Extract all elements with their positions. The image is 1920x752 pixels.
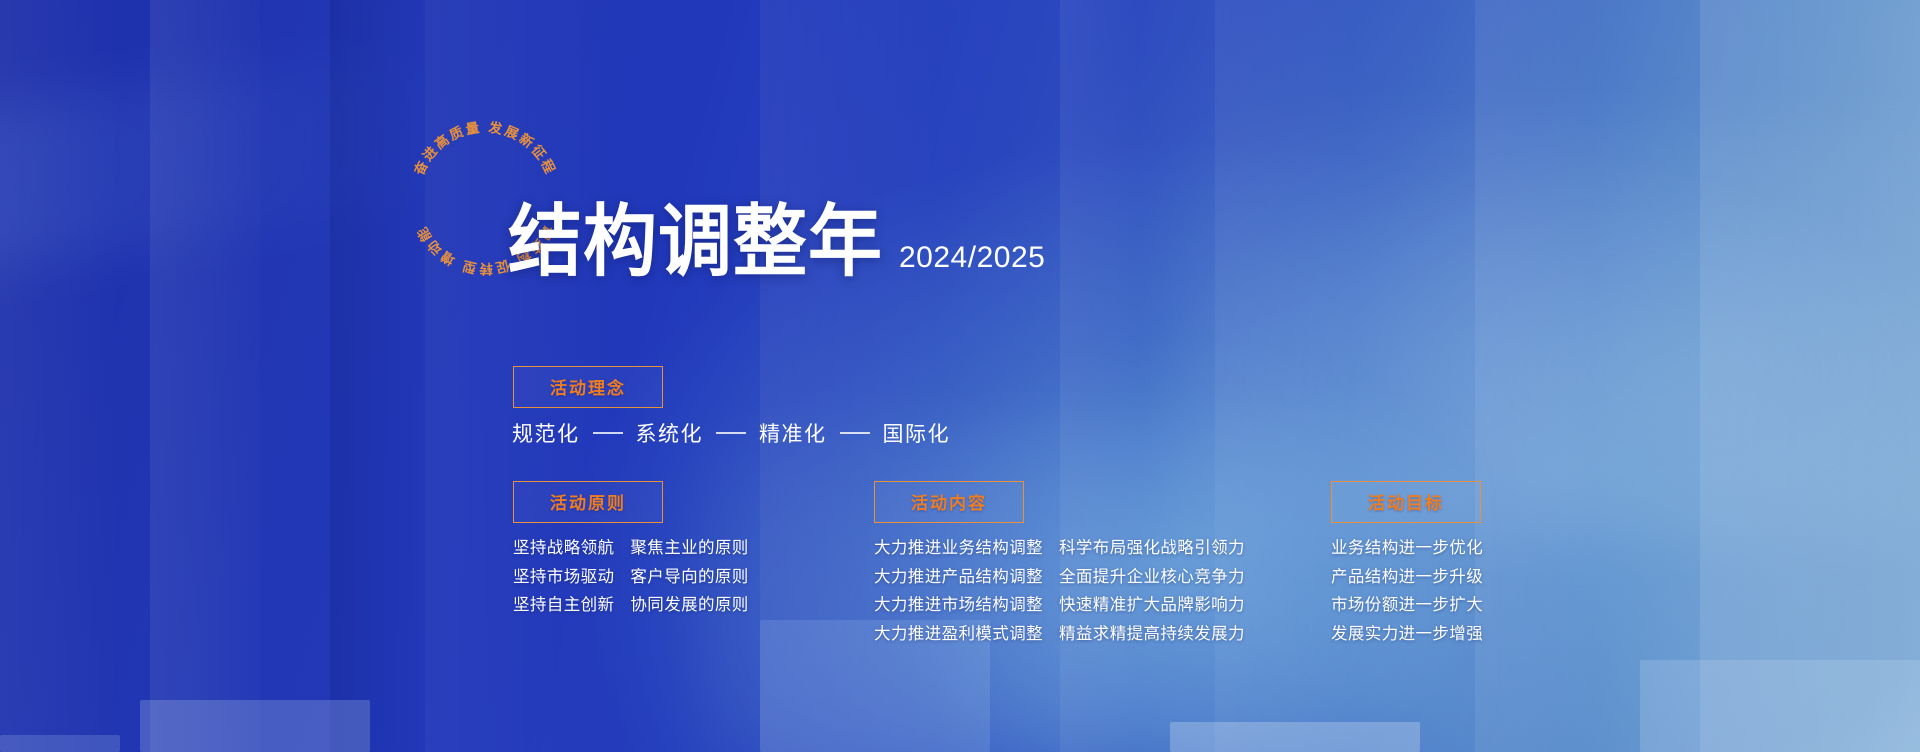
content-1-b: 全面提升企业核心竞争力 [1059, 563, 1245, 592]
bg-band-1 [0, 0, 120, 752]
bg-block-1 [140, 700, 370, 752]
separator-dash-icon [716, 432, 746, 434]
list-item: 业务结构进一步优化 [1331, 534, 1483, 563]
separator-dash-icon [840, 432, 870, 434]
concept-item-2: 精准化 [759, 418, 827, 448]
list-item: 大力推进市场结构调整 快速精准扩大品牌影响力 [874, 591, 1245, 620]
promo-banner: 奋进高质量 发展新征程 调结构 促转型 增动能 结构调整年 2024/2025 … [0, 0, 1920, 752]
emblem-top-textpath: 奋进高质量 发展新征程 [410, 119, 559, 179]
list-item: 坚持自主创新 协同发展的原则 [513, 591, 749, 620]
list-item: 产品结构进一步升级 [1331, 563, 1483, 592]
bg-block-3 [1170, 722, 1420, 752]
content-3-b: 精益求精提高持续发展力 [1059, 620, 1245, 649]
principle-1-a: 坚持市场驱动 [513, 563, 614, 592]
content-0-b: 科学布局强化战略引领力 [1059, 534, 1245, 563]
list-item: 坚持市场驱动 客户导向的原则 [513, 563, 749, 592]
list-item: 坚持战略领航 聚焦主业的原则 [513, 534, 749, 563]
content-list: 大力推进业务结构调整 科学布局强化战略引领力 大力推进产品结构调整 全面提升企业… [874, 534, 1245, 648]
list-item: 大力推进业务结构调整 科学布局强化战略引领力 [874, 534, 1245, 563]
goal-0: 业务结构进一步优化 [1331, 534, 1483, 563]
badge-content: 活动内容 [874, 481, 1024, 523]
page-title: 结构调整年 [508, 203, 883, 281]
goal-3: 发展实力进一步增强 [1331, 620, 1483, 649]
headline-group: 结构调整年 2024/2025 [508, 207, 1045, 281]
bg-band-2 [150, 0, 260, 752]
content-2-a: 大力推进市场结构调整 [874, 591, 1043, 620]
content-3-a: 大力推进盈利模式调整 [874, 620, 1043, 649]
list-item: 发展实力进一步增强 [1331, 620, 1483, 649]
principle-2-b: 协同发展的原则 [630, 591, 748, 620]
emblem-top-text: 奋进高质量 发展新征程 [410, 119, 559, 179]
goal-1: 产品结构进一步升级 [1331, 563, 1483, 592]
goal-2: 市场份额进一步扩大 [1331, 591, 1483, 620]
principle-1-b: 客户导向的原则 [630, 563, 748, 592]
principle-0-a: 坚持战略领航 [513, 534, 614, 563]
list-item: 市场份额进一步扩大 [1331, 591, 1483, 620]
concept-item-list: 规范化 系统化 精准化 国际化 [512, 418, 950, 448]
bg-band-8 [1475, 0, 1595, 752]
principle-0-b: 聚焦主业的原则 [630, 534, 748, 563]
principle-2-a: 坚持自主创新 [513, 591, 614, 620]
bg-block-5 [0, 735, 120, 752]
bg-streak-right [1180, 120, 1920, 540]
content-2-b: 快速精准扩大品牌影响力 [1059, 591, 1245, 620]
year-range-label: 2024/2025 [899, 241, 1045, 275]
concept-item-0: 规范化 [512, 418, 580, 448]
list-item: 大力推进盈利模式调整 精益求精提高持续发展力 [874, 620, 1245, 649]
concept-item-3: 国际化 [883, 418, 951, 448]
badge-goal: 活动目标 [1331, 481, 1481, 523]
concept-item-1: 系统化 [636, 418, 704, 448]
principle-list: 坚持战略领航 聚焦主业的原则 坚持市场驱动 客户导向的原则 坚持自主创新 协同发… [513, 534, 749, 620]
content-0-a: 大力推进业务结构调整 [874, 534, 1043, 563]
separator-dash-icon [593, 432, 623, 434]
bg-streak-left [0, 45, 449, 276]
bg-band-3 [330, 0, 425, 752]
badge-concept: 活动理念 [513, 366, 663, 408]
bg-block-4 [1640, 660, 1920, 752]
goal-list: 业务结构进一步优化 产品结构进一步升级 市场份额进一步扩大 发展实力进一步增强 [1331, 534, 1483, 648]
list-item: 大力推进产品结构调整 全面提升企业核心竞争力 [874, 563, 1245, 592]
content-1-a: 大力推进产品结构调整 [874, 563, 1043, 592]
bg-band-9 [1700, 0, 1920, 752]
badge-principle: 活动原则 [513, 481, 663, 523]
